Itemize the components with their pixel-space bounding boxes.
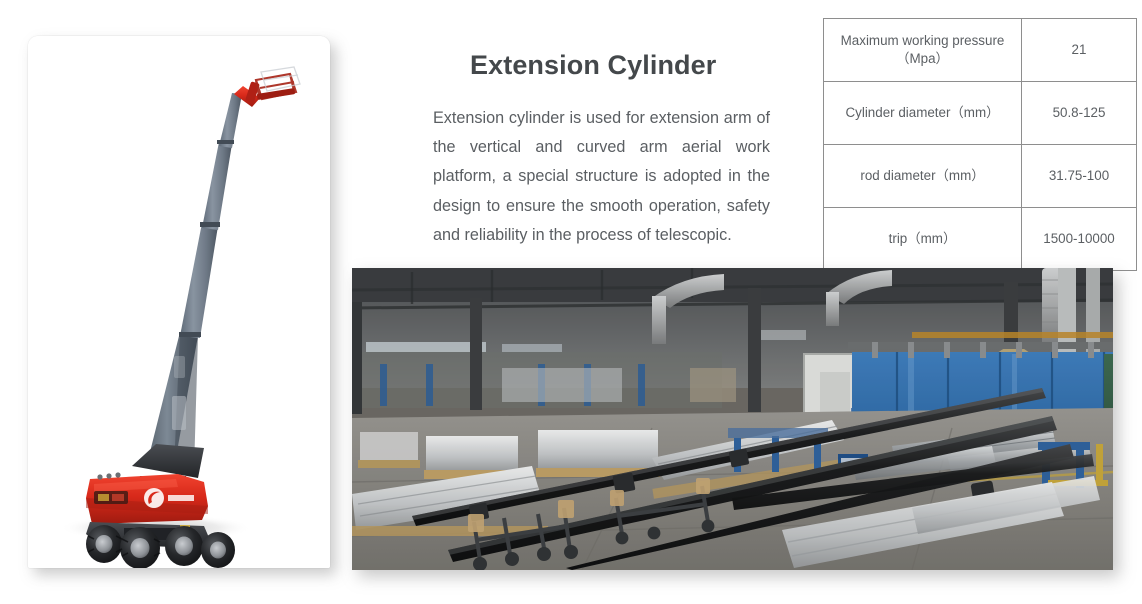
- factory-photo-illustration: [352, 268, 1113, 570]
- specification-table: Maximum working pressure（Mpa） 21 Cylinde…: [823, 18, 1137, 271]
- product-image-stage: [28, 36, 330, 568]
- product-description-text: Extension cylinder is used for extension…: [433, 109, 770, 244]
- product-description: Extension cylinder is used for extension…: [433, 104, 770, 250]
- spec-label: Maximum working pressure（Mpa）: [824, 19, 1022, 82]
- page-title: Extension Cylinder: [470, 50, 716, 81]
- specification-table-body: Maximum working pressure（Mpa） 21 Cylinde…: [824, 19, 1137, 271]
- table-row: rod diameter（mm） 31.75-100: [824, 145, 1137, 208]
- table-row: Cylinder diameter（mm） 50.8-125: [824, 82, 1137, 145]
- spec-label: Cylinder diameter（mm）: [824, 82, 1022, 145]
- factory-photo: [352, 268, 1113, 570]
- spec-label: trip（mm）: [824, 208, 1022, 271]
- spec-value: 31.75-100: [1022, 145, 1137, 208]
- spec-value: 50.8-125: [1022, 82, 1137, 145]
- boom-lift-illustration: [28, 36, 330, 568]
- spec-value: 21: [1022, 19, 1137, 82]
- spec-label: rod diameter（mm）: [824, 145, 1022, 208]
- spec-value: 1500-10000: [1022, 208, 1137, 271]
- table-row: Maximum working pressure（Mpa） 21: [824, 19, 1137, 82]
- product-image-card: [28, 36, 330, 568]
- table-row: trip（mm） 1500-10000: [824, 208, 1137, 271]
